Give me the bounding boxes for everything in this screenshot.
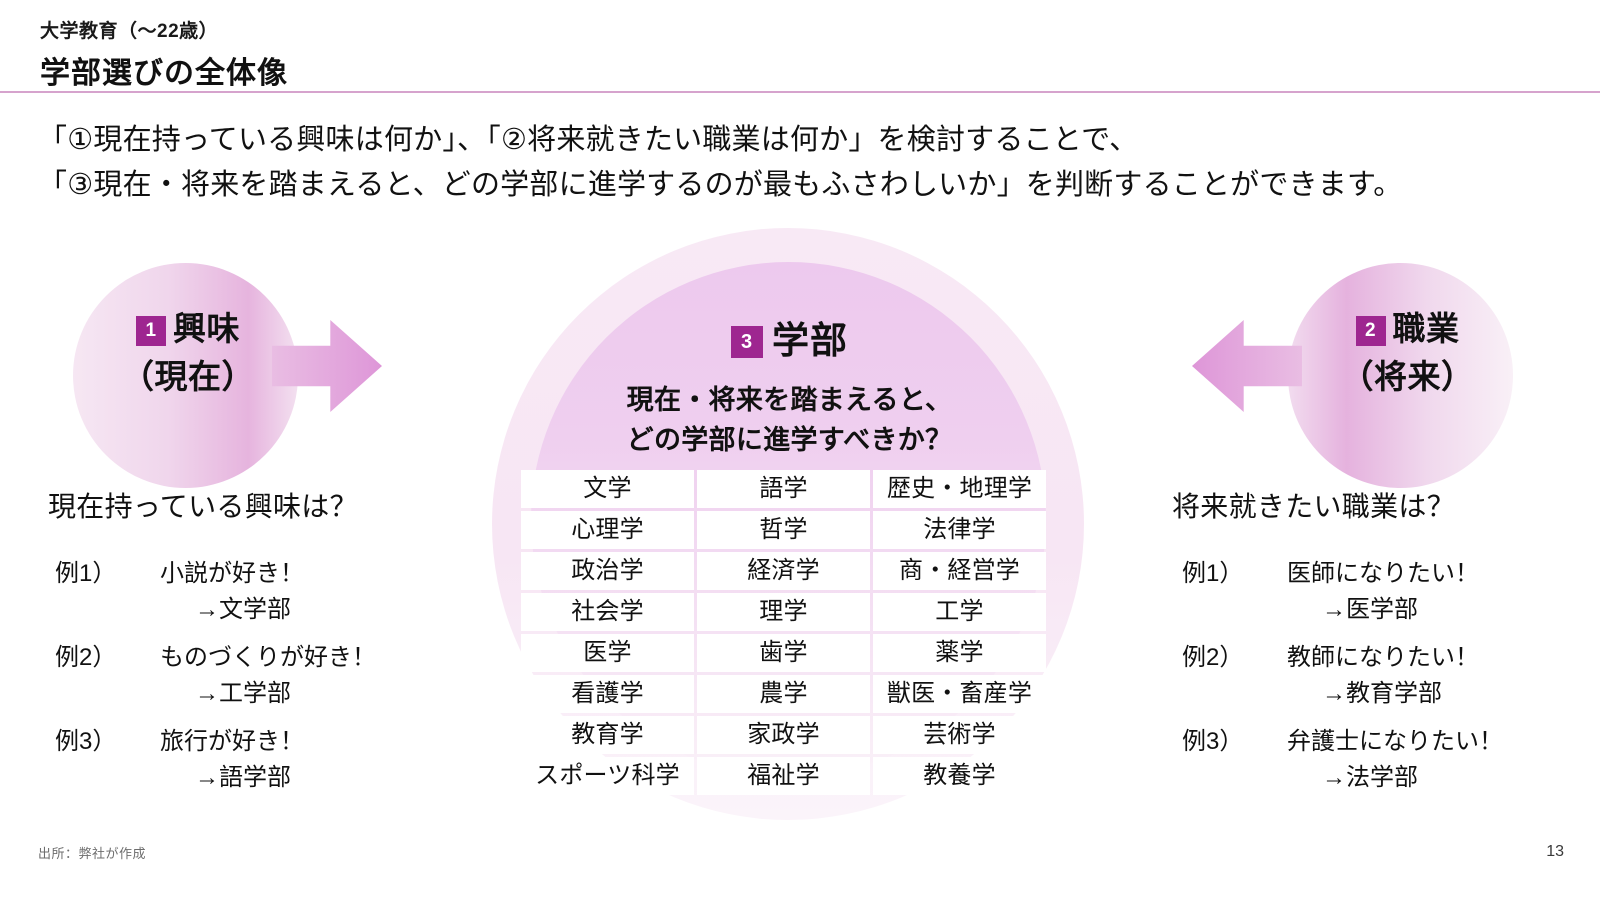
faculty-cell[interactable]: 農学 xyxy=(697,675,870,713)
faculty-table: 文学語学歴史・地理学心理学哲学法律学政治学経済学商・経営学社会学理学工学医学歯学… xyxy=(521,470,1046,795)
faculty-cell[interactable]: 教育学 xyxy=(521,716,694,754)
example-label: 例3） xyxy=(55,724,160,760)
faculty-cell[interactable]: 福祉学 xyxy=(697,757,870,795)
occupation-examples: 例1） 医師になりたい！ →医学部 例2） 教師になりたい！ →教育学部 例3）… xyxy=(1182,556,1503,808)
example-result: →文学部 xyxy=(160,592,304,628)
occupation-title: 職業 xyxy=(1393,310,1460,347)
list-item: 例2） ものづくりが好き！ →工学部 xyxy=(55,640,376,712)
faculty-cell[interactable]: 社会学 xyxy=(521,593,694,631)
example-result: →医学部 xyxy=(1287,592,1479,628)
faculty-title: 学部 xyxy=(772,320,848,361)
example-body: 小説が好き！ →文学部 xyxy=(160,556,304,628)
example-label: 例2） xyxy=(55,640,160,676)
occupation-label: 2職業 （将来） xyxy=(1300,305,1515,401)
faculty-cell[interactable]: 歴史・地理学 xyxy=(873,470,1046,508)
faculty-cell[interactable]: 哲学 xyxy=(697,511,870,549)
page-number: 13 xyxy=(1546,843,1564,861)
example-body: 教師になりたい！ →教育学部 xyxy=(1287,640,1479,712)
interest-examples: 例1） 小説が好き！ →文学部 例2） ものづくりが好き！ →工学部 例3） 旅… xyxy=(55,556,376,808)
interest-title: 興味 xyxy=(173,310,240,347)
lead-line-2: 「③現在・将来を踏まえると、どの学部に進学するのが最もふさわしいか」を判断するこ… xyxy=(38,163,1558,208)
step-badge-1: 1 xyxy=(136,316,166,346)
slide-canvas: 大学教育（〜22歳） 学部選びの全体像 「①現在持っている興味は何か」、「②将来… xyxy=(0,0,1600,900)
example-body: 医師になりたい！ →医学部 xyxy=(1287,556,1479,628)
faculty-cell[interactable]: 家政学 xyxy=(697,716,870,754)
occupation-title-row: 2職業 xyxy=(1300,305,1515,353)
interest-label: 1興味 （現在） xyxy=(83,305,293,401)
example-main: 弁護士になりたい！ xyxy=(1287,724,1503,760)
example-body: ものづくりが好き！ →工学部 xyxy=(160,640,376,712)
occupation-subtitle: （将来） xyxy=(1300,353,1515,401)
list-item: 例1） 小説が好き！ →文学部 xyxy=(55,556,376,628)
faculty-cell[interactable]: 語学 xyxy=(697,470,870,508)
example-main: 教師になりたい！ xyxy=(1287,640,1479,676)
example-result: →法学部 xyxy=(1287,760,1503,796)
page-title: 学部選びの全体像 xyxy=(40,48,288,92)
example-main: 旅行が好き！ xyxy=(160,724,304,760)
header-divider xyxy=(0,91,1600,93)
faculty-subtitle-line-1: 現在・将来を踏まえると、 xyxy=(572,380,1007,420)
faculty-subtitle: 現在・将来を踏まえると、 どの学部に進学すべきか？ xyxy=(572,380,1007,460)
faculty-subtitle-line-2: どの学部に進学すべきか？ xyxy=(572,420,1007,460)
example-main: ものづくりが好き！ xyxy=(160,640,376,676)
example-body: 旅行が好き！ →語学部 xyxy=(160,724,304,796)
source-note: 出所：弊社が作成 xyxy=(38,843,146,862)
faculty-cell[interactable]: 看護学 xyxy=(521,675,694,713)
interest-question: 現在持っている興味は？ xyxy=(48,485,358,525)
list-item: 例3） 旅行が好き！ →語学部 xyxy=(55,724,376,796)
list-item: 例3） 弁護士になりたい！ →法学部 xyxy=(1182,724,1503,796)
faculty-cell[interactable]: 薬学 xyxy=(873,634,1046,672)
faculty-cell[interactable]: 文学 xyxy=(521,470,694,508)
faculty-cell[interactable]: 政治学 xyxy=(521,552,694,590)
example-result: →教育学部 xyxy=(1287,676,1479,712)
example-result: →工学部 xyxy=(160,676,376,712)
slide-eyebrow: 大学教育（〜22歳） xyxy=(40,16,218,43)
faculty-cell[interactable]: 商・経営学 xyxy=(873,552,1046,590)
step-badge-3: 3 xyxy=(731,326,763,358)
faculty-cell[interactable]: 経済学 xyxy=(697,552,870,590)
example-label: 例2） xyxy=(1182,640,1287,676)
list-item: 例2） 教師になりたい！ →教育学部 xyxy=(1182,640,1503,712)
lead-line-1: 「①現在持っている興味は何か」、「②将来就きたい職業は何か」を検討することで、 xyxy=(38,118,1558,163)
interest-subtitle: （現在） xyxy=(83,353,293,401)
faculty-cell[interactable]: 法律学 xyxy=(873,511,1046,549)
list-item: 例1） 医師になりたい！ →医学部 xyxy=(1182,556,1503,628)
faculty-cell[interactable]: 獣医・畜産学 xyxy=(873,675,1046,713)
example-main: 医師になりたい！ xyxy=(1287,556,1479,592)
example-label: 例3） xyxy=(1182,724,1287,760)
example-body: 弁護士になりたい！ →法学部 xyxy=(1287,724,1503,796)
faculty-cell[interactable]: 教養学 xyxy=(873,757,1046,795)
example-label: 例1） xyxy=(55,556,160,592)
faculty-cell[interactable]: 芸術学 xyxy=(873,716,1046,754)
faculty-cell[interactable]: スポーツ科学 xyxy=(521,757,694,795)
lead-paragraph: 「①現在持っている興味は何か」、「②将来就きたい職業は何か」を検討することで、 … xyxy=(38,118,1558,208)
occupation-question: 将来就きたい職業は？ xyxy=(1172,485,1455,525)
faculty-cell[interactable]: 歯学 xyxy=(697,634,870,672)
faculty-cell[interactable]: 工学 xyxy=(873,593,1046,631)
example-main: 小説が好き！ xyxy=(160,556,304,592)
step-badge-2: 2 xyxy=(1356,316,1386,346)
example-result: →語学部 xyxy=(160,760,304,796)
arrow-left-icon xyxy=(1192,320,1302,412)
faculty-cell[interactable]: 理学 xyxy=(697,593,870,631)
interest-title-row: 1興味 xyxy=(83,305,293,353)
faculty-title-row: 3学部 xyxy=(592,310,987,364)
example-label: 例1） xyxy=(1182,556,1287,592)
faculty-cell[interactable]: 医学 xyxy=(521,634,694,672)
faculty-cell[interactable]: 心理学 xyxy=(521,511,694,549)
